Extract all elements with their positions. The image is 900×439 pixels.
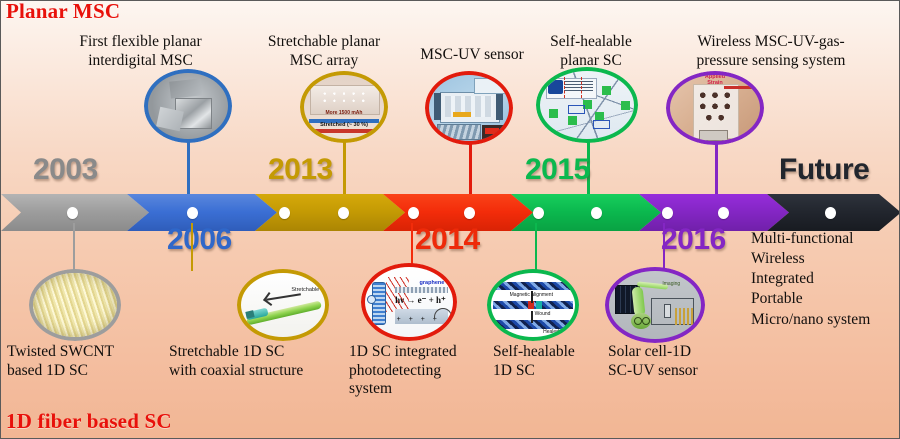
thumb-self-healable-planar-sc[interactable] (536, 67, 638, 143)
bottom-caption-1: Stretchable 1D SC with coaxial structure (169, 343, 339, 380)
stem-bottom-2 (411, 223, 413, 265)
year-label-2006: 2006 (167, 223, 232, 257)
timeline-segment-future[interactable] (767, 194, 900, 231)
stem-bottom-1 (191, 223, 193, 271)
top-caption-1: Stretchable planar MSC array (249, 33, 399, 70)
segment-dot (187, 207, 198, 219)
segment-dot (718, 207, 729, 219)
page-title-planar-msc: Planar MSC (6, 0, 120, 24)
future-attributes-list: Multi-functional Wireless Integrated Por… (751, 229, 870, 330)
thumb-photo: + + + + graphene hν → e⁻ + h⁺ (365, 267, 453, 337)
thumb-msc-uv-sensor[interactable] (425, 71, 513, 145)
thumb-self-healable-1d-sc[interactable]: Magnetic alignment Wound Healed (487, 269, 579, 341)
year-label-2003: 2003 (33, 153, 98, 187)
timeline-infographic: Planar MSC 1D fiber based SC First flexi… (0, 0, 900, 439)
thumb-stretchable-planar-msc-array[interactable]: More 1500 mAh Stretched (~ 30 %) (300, 71, 388, 143)
thumb-label-magnetic-alignment: Magnetic alignment (509, 292, 553, 300)
year-label-2015: 2015 (525, 153, 590, 187)
bottom-caption-0: Twisted SWCNT based 1D SC (7, 343, 157, 380)
thumb-photo (540, 71, 634, 139)
segment-dot (464, 207, 475, 219)
stem-top-1 (343, 139, 346, 201)
thumb-1d-sc-integrated-photodetecting-system[interactable]: + + + + graphene hν → e⁻ + h⁺ (361, 263, 457, 341)
stem-top-4 (715, 141, 718, 201)
thumb-photo: Magnetic alignment Wound Healed (491, 273, 575, 337)
bottom-caption-3: Self-healable 1D SC (493, 343, 613, 380)
stem-bottom-4 (663, 223, 665, 271)
thumb-photo: Imaging (609, 271, 701, 339)
top-caption-4: Wireless MSC-UV-gas- pressure sensing sy… (651, 33, 891, 70)
segment-dot (67, 207, 78, 219)
thumb-photo (33, 273, 117, 337)
thumb-photo: Stretchable (241, 273, 325, 337)
page-title-1d-fiber-based-sc: 1D fiber based SC (6, 409, 172, 434)
thumb-label-graphene: graphene (420, 280, 450, 289)
thumb-twisted-swcnt-based-1d-sc[interactable] (29, 269, 121, 341)
thumb-flexible-planar-interdigital-msc[interactable] (144, 69, 232, 143)
segment-dot (279, 207, 290, 219)
segment-dot (662, 207, 673, 219)
year-label-2013: 2013 (268, 153, 333, 187)
year-label-2016: 2016 (661, 223, 726, 257)
bottom-caption-2: 1D SC integrated photodetecting system (349, 343, 489, 399)
thumb-label-wound: Wound (535, 311, 569, 319)
top-caption-2: MSC-UV sensor (399, 46, 545, 65)
top-caption-3: Self-healable planar SC (531, 33, 651, 70)
thumb-photo: More 1500 mAh Stretched (~ 30 %) (304, 75, 384, 139)
thumb-wireless-msc-uv-gas-pressure-sensing-system[interactable]: Applied Strain (666, 71, 764, 145)
stem-bottom-0 (73, 223, 75, 273)
thumb-photo (148, 73, 228, 139)
stem-bottom-3 (535, 223, 537, 271)
thumb-label-equation: hν → e⁻ + h⁺ (395, 295, 446, 308)
segment-dot (825, 207, 836, 219)
segment-dot (338, 207, 349, 219)
thumb-stretchable-1d-sc-coaxial[interactable]: Stretchable (237, 269, 329, 341)
thumb-solar-cell-1d-sc-uv-sensor[interactable]: Imaging (605, 267, 705, 343)
stem-top-2 (469, 139, 472, 201)
year-label-future: Future (779, 153, 869, 187)
thumb-photo: Applied Strain (670, 75, 760, 141)
thumb-label-healed: Healed (543, 329, 573, 337)
thumb-label-imaging: Imaging (662, 281, 693, 289)
thumb-photo (429, 75, 509, 141)
stem-top-0 (187, 139, 190, 201)
segment-dot (533, 207, 544, 219)
bottom-caption-4: Solar cell-1D SC-UV sensor (608, 343, 748, 380)
segment-dot (591, 207, 602, 219)
year-label-2014: 2014 (415, 223, 480, 257)
segment-dot (408, 207, 419, 219)
top-caption-0: First flexible planar interdigital MSC (53, 33, 228, 70)
thumb-label-stretchable: Stretchable (291, 287, 323, 297)
